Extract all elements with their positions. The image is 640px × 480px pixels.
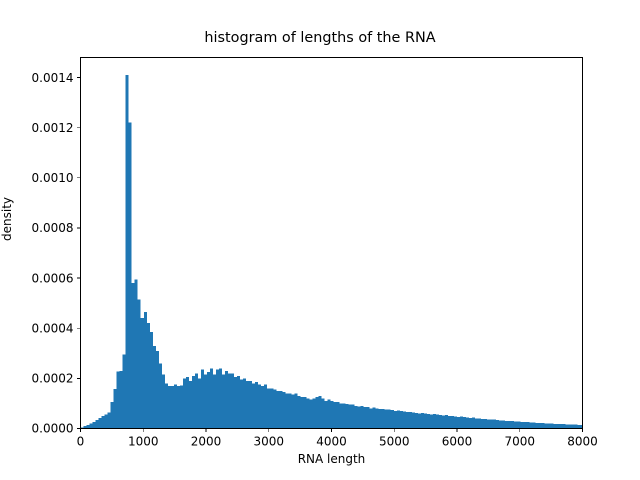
- histogram-bar: [183, 378, 186, 428]
- histogram-bar: [349, 405, 352, 429]
- y-tick-label: 0.0012: [32, 121, 74, 135]
- histogram-bar: [318, 396, 321, 429]
- histogram-bar: [337, 402, 340, 428]
- histogram-bar: [192, 376, 195, 429]
- histogram-bar: [219, 368, 222, 428]
- histogram-bar: [499, 420, 502, 428]
- histogram-bar: [93, 422, 96, 428]
- histogram-bar: [105, 414, 108, 428]
- histogram-bar: [385, 410, 388, 429]
- histogram-bar: [291, 395, 294, 429]
- histogram-bar: [406, 412, 409, 428]
- histogram-bar: [114, 389, 117, 429]
- histogram-bar: [529, 422, 532, 428]
- figure-canvas: histogram of lengths of the RNA 01000200…: [0, 0, 640, 480]
- histogram-bar: [343, 403, 346, 428]
- histogram-bar: [99, 418, 102, 429]
- histogram-bar: [198, 378, 201, 428]
- histogram-bar: [445, 415, 448, 428]
- histogram-bar: [234, 377, 237, 428]
- histogram-bar: [358, 406, 361, 428]
- histogram-bar: [213, 375, 216, 429]
- histogram-bar: [418, 413, 421, 428]
- histogram-bar: [261, 386, 264, 429]
- histogram-bar: [400, 411, 403, 429]
- histogram-bar: [364, 407, 367, 428]
- histogram-bar: [300, 397, 303, 428]
- histogram-bar: [186, 377, 189, 428]
- histogram-bar: [123, 355, 126, 429]
- histogram-bar: [195, 373, 198, 428]
- histogram-bar: [201, 370, 204, 429]
- histogram-bar: [439, 415, 442, 429]
- histogram-bar: [550, 424, 553, 429]
- histogram-bar: [267, 388, 270, 428]
- histogram-bar: [273, 390, 276, 429]
- histogram-bar: [129, 123, 132, 429]
- histogram-bar: [297, 396, 300, 429]
- histogram-bar: [457, 417, 460, 429]
- y-tick-label: 0.0000: [32, 422, 74, 436]
- histogram-bar: [87, 425, 90, 429]
- histogram-bar: [228, 373, 231, 428]
- histogram-bar: [553, 424, 556, 429]
- histogram-bar: [421, 413, 424, 429]
- histogram-bar: [559, 424, 562, 428]
- histogram-bar: [475, 418, 478, 428]
- histogram-bar: [150, 332, 153, 429]
- histogram-bar: [222, 375, 225, 429]
- histogram-bar: [547, 423, 550, 428]
- histogram-bar: [237, 376, 240, 429]
- histogram-bar: [478, 418, 481, 428]
- bars-group: [81, 75, 583, 428]
- histogram-bar: [490, 420, 493, 429]
- histogram-bar: [577, 425, 580, 429]
- y-axis-label: density: [0, 159, 14, 279]
- histogram-bar: [165, 383, 168, 428]
- histogram-bar: [324, 401, 327, 429]
- histogram-bar: [156, 351, 159, 429]
- histogram-bar: [207, 372, 210, 428]
- y-tick-label: 0.0008: [32, 221, 74, 235]
- histogram-bar: [315, 397, 318, 428]
- histogram-bar: [355, 406, 358, 429]
- histogram-bar: [255, 382, 258, 428]
- histogram-bar: [111, 402, 114, 429]
- histogram-bar: [331, 401, 334, 429]
- histogram-bar: [451, 416, 454, 429]
- histogram-bar: [282, 392, 285, 428]
- histogram-bar: [294, 393, 297, 428]
- histogram-bar: [210, 368, 213, 428]
- histogram-bar: [246, 381, 249, 429]
- histogram-bar: [502, 421, 505, 429]
- histogram-bar: [370, 408, 373, 428]
- histogram-bar: [285, 393, 288, 428]
- histogram-bar: [135, 279, 138, 428]
- histogram-bar: [340, 403, 343, 428]
- x-tick-label: 8000: [567, 435, 598, 449]
- y-tick-label: 0.0006: [32, 271, 74, 285]
- histogram-bar: [466, 417, 469, 428]
- histogram-bar: [141, 318, 144, 428]
- histogram-bar: [505, 421, 508, 429]
- histogram-bar: [309, 400, 312, 429]
- y-tick-label: 0.0010: [32, 171, 74, 185]
- x-axis-label: RNA length: [80, 452, 583, 466]
- histogram-bar: [460, 417, 463, 429]
- histogram-bar: [264, 385, 267, 429]
- histogram-bar: [430, 414, 433, 428]
- histogram-bar: [412, 412, 415, 428]
- x-tick-label: 5000: [379, 435, 410, 449]
- histogram-bar: [535, 423, 538, 429]
- histogram-bar: [216, 370, 219, 429]
- x-tick-label: 1000: [128, 435, 159, 449]
- histogram-bar: [427, 414, 430, 429]
- histogram-bar: [240, 380, 243, 429]
- histogram-bar: [225, 371, 228, 429]
- histogram-bar: [189, 381, 192, 429]
- histogram-bar: [415, 413, 418, 429]
- histogram-bar: [436, 415, 439, 429]
- y-tick-label: 0.0014: [32, 71, 74, 85]
- histogram-bar: [373, 408, 376, 429]
- histogram-bar: [204, 375, 207, 429]
- histogram-bar: [120, 371, 123, 429]
- histogram-bar: [463, 417, 466, 428]
- histogram-bar: [159, 363, 162, 428]
- histogram-bar: [144, 312, 147, 429]
- y-tick-label: 0.0004: [32, 321, 74, 335]
- histogram-bar: [90, 424, 93, 429]
- histogram-bar: [138, 299, 141, 428]
- histogram-bar: [424, 413, 427, 428]
- histogram-bar: [397, 410, 400, 428]
- histogram-bar: [288, 393, 291, 428]
- histogram-bar: [126, 75, 129, 428]
- histogram-bar: [493, 420, 496, 429]
- histogram-bar: [132, 283, 135, 428]
- histogram-bar: [391, 410, 394, 428]
- histogram-bar: [153, 346, 156, 429]
- histogram-bar: [574, 425, 577, 429]
- histogram-bar: [496, 420, 499, 428]
- histogram-bar: [514, 421, 517, 428]
- histogram-bar: [469, 418, 472, 429]
- histogram-bar: [433, 414, 436, 429]
- histogram-bar: [481, 419, 484, 429]
- histogram-bar: [523, 422, 526, 429]
- histogram-bar: [448, 416, 451, 429]
- histogram-bar: [249, 381, 252, 429]
- histogram-bar: [168, 386, 171, 429]
- histogram-bar: [442, 415, 445, 428]
- x-tick-label: 7000: [505, 435, 536, 449]
- histogram-bar: [276, 391, 279, 429]
- histogram-bar: [177, 386, 180, 429]
- histogram-bar: [108, 412, 111, 428]
- histogram-bar: [571, 425, 574, 429]
- x-tick-label: 0: [77, 435, 85, 449]
- histogram-bar: [532, 423, 535, 429]
- histogram-axes: 0100020003000400050006000700080000.00000…: [0, 0, 640, 480]
- histogram-bar: [403, 411, 406, 428]
- histogram-bar: [361, 406, 364, 429]
- histogram-bar: [180, 385, 183, 428]
- histogram-bar: [147, 323, 150, 428]
- x-tick-label: 3000: [254, 435, 285, 449]
- histogram-bar: [174, 385, 177, 429]
- histogram-bar: [334, 402, 337, 428]
- histogram-bar: [270, 388, 273, 428]
- histogram-bar: [243, 378, 246, 428]
- histogram-bar: [568, 424, 571, 428]
- histogram-bar: [544, 423, 547, 428]
- histogram-bar: [511, 421, 514, 428]
- histogram-bar: [454, 416, 457, 428]
- histogram-bar: [258, 385, 261, 429]
- histogram-bar: [526, 422, 529, 428]
- histogram-bar: [520, 422, 523, 429]
- x-tick-label: 6000: [442, 435, 473, 449]
- histogram-bar: [306, 398, 309, 428]
- histogram-bar: [472, 418, 475, 429]
- histogram-bar: [394, 411, 397, 429]
- histogram-bar: [508, 421, 511, 429]
- histogram-bar: [321, 398, 324, 428]
- histogram-bar: [382, 409, 385, 429]
- histogram-bar: [102, 416, 105, 429]
- x-tick-label: 4000: [316, 435, 347, 449]
- histogram-bar: [279, 391, 282, 429]
- histogram-bar: [541, 423, 544, 428]
- histogram-bar: [484, 419, 487, 429]
- y-tick-label: 0.0002: [32, 372, 74, 386]
- histogram-bar: [303, 397, 306, 428]
- histogram-bar: [538, 423, 541, 429]
- histogram-bar: [346, 404, 349, 429]
- x-tick-label: 2000: [191, 435, 222, 449]
- histogram-bar: [327, 400, 330, 429]
- histogram-bar: [565, 424, 568, 428]
- histogram-bar: [556, 424, 559, 429]
- histogram-bar: [367, 407, 370, 428]
- histogram-bar: [171, 386, 174, 429]
- histogram-bar: [517, 422, 520, 429]
- histogram-bar: [487, 419, 490, 428]
- histogram-bar: [312, 398, 315, 428]
- histogram-bar: [117, 371, 120, 428]
- histogram-bar: [231, 373, 234, 428]
- histogram-bar: [388, 409, 391, 428]
- histogram-bar: [96, 420, 99, 428]
- histogram-bar: [379, 409, 382, 429]
- histogram-bar: [409, 412, 412, 429]
- histogram-bar: [562, 424, 565, 428]
- histogram-bar: [252, 383, 255, 428]
- histogram-bar: [376, 408, 379, 428]
- histogram-bar: [352, 405, 355, 429]
- histogram-bar: [162, 375, 165, 429]
